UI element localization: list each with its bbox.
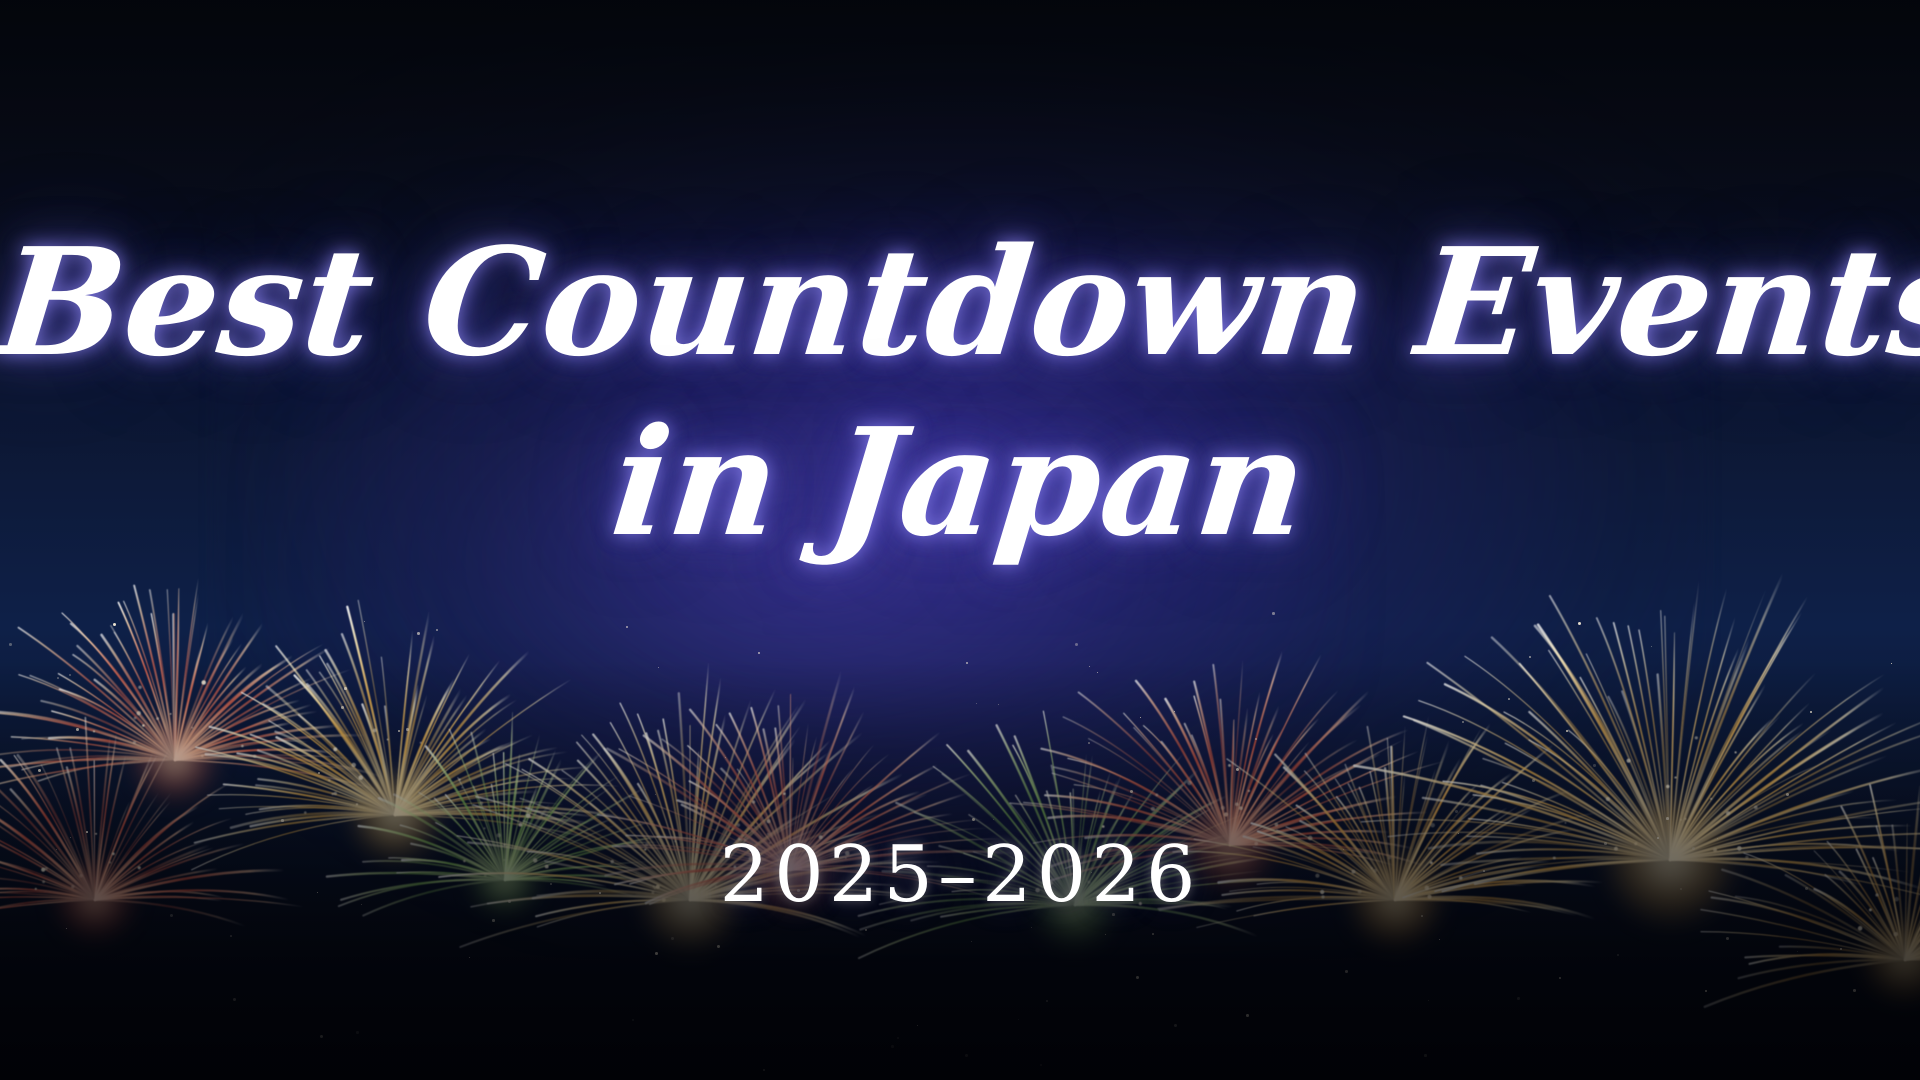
poster-title-block: Best Countdown Events in Japan xyxy=(0,228,1920,556)
fireworks-poster: Best Countdown Events in Japan 2025–2026 xyxy=(0,0,1920,1080)
headline-line-2: in Japan xyxy=(0,408,1920,556)
headline-line-1: Best Countdown Events xyxy=(0,228,1920,376)
year-range-label: 2025–2026 xyxy=(0,836,1920,914)
